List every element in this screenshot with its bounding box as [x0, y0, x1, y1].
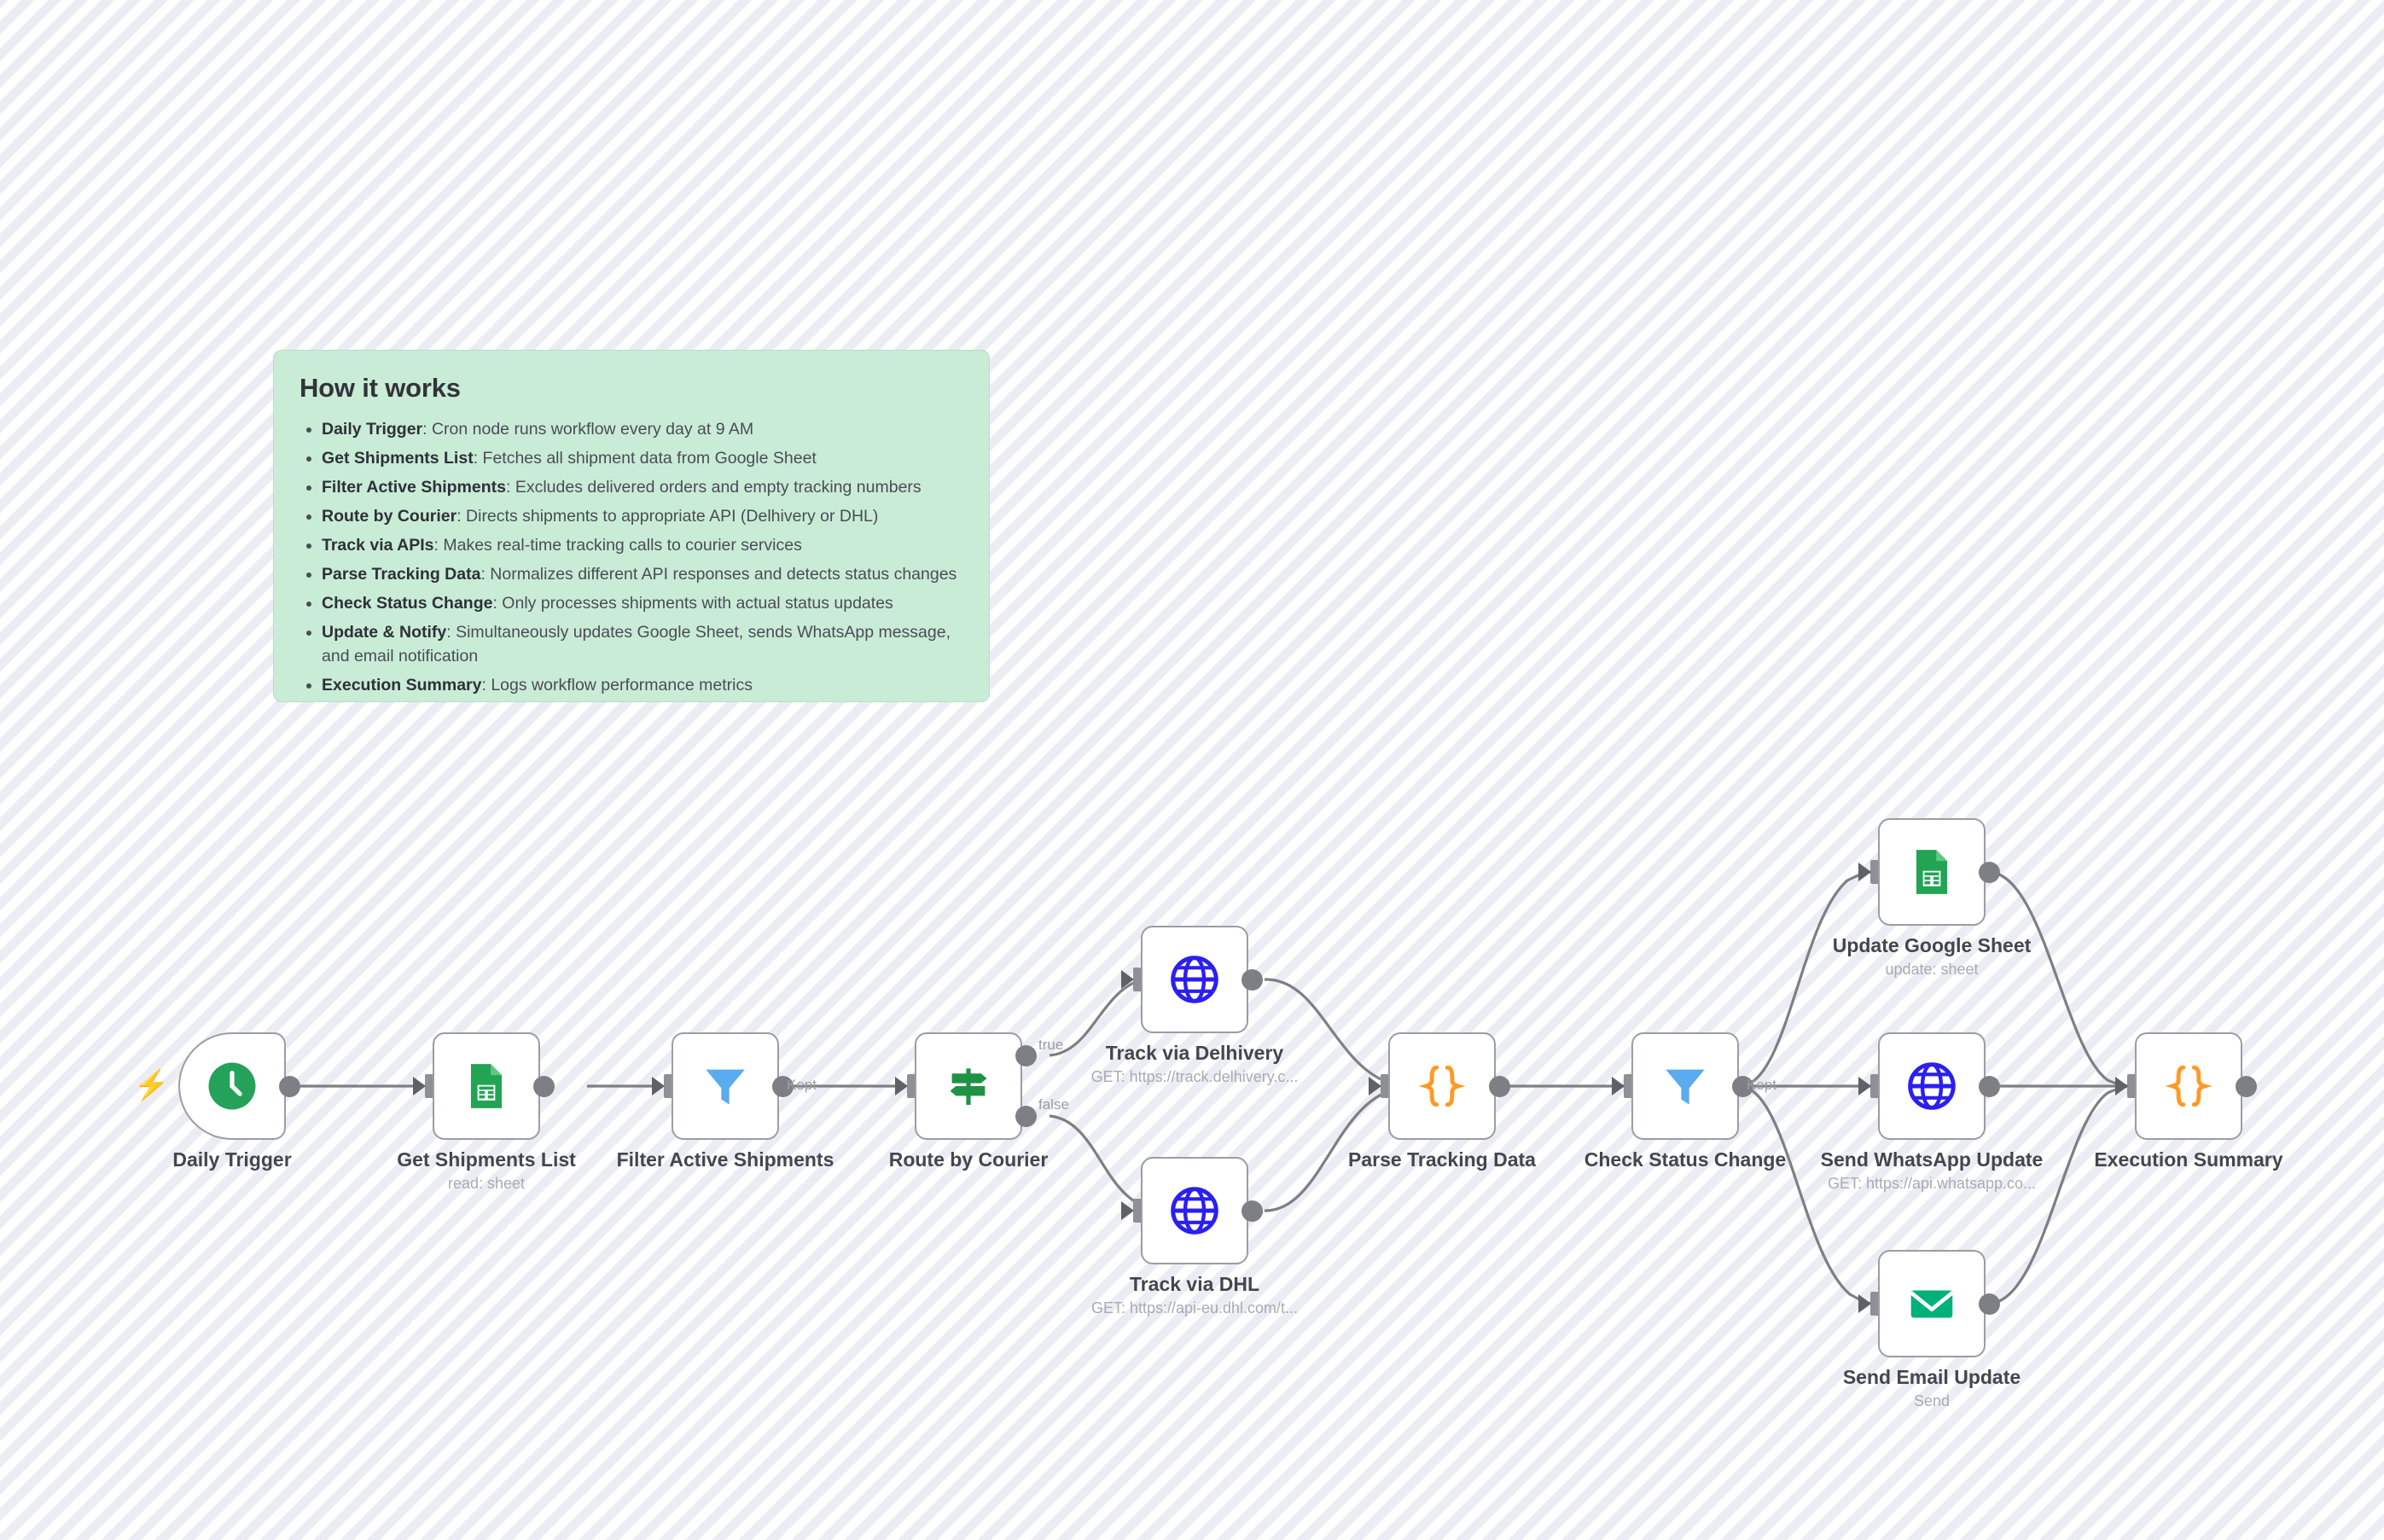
note-title: How it works: [299, 373, 963, 404]
note-item-term: Daily Trigger: [322, 420, 422, 439]
note-item-desc: : Only processes shipments with actual s…: [492, 594, 893, 613]
note-item-term: Parse Tracking Data: [322, 565, 480, 584]
node-subtitle: read: sheet: [290, 1175, 683, 1193]
note-item: Execution Summary: Logs workflow perform…: [322, 673, 963, 697]
connection-label-kept: Kept: [1747, 1077, 1776, 1094]
connection-label-kept: Kept: [787, 1077, 817, 1094]
wire-sheet-to-summary: [1988, 872, 2131, 1086]
output-endpoint[interactable]: [1979, 1293, 2000, 1315]
node-title: Send Email Update: [1736, 1366, 2128, 1389]
funnel-icon: [699, 1060, 752, 1113]
node-title: Execution Summary: [1992, 1148, 2384, 1171]
output-endpoint[interactable]: [1241, 969, 1263, 991]
connection-label-false: false: [1038, 1096, 1069, 1113]
output-endpoint[interactable]: [1489, 1076, 1510, 1097]
note-item-desc: : Makes real-time tracking calls to cour…: [434, 536, 802, 555]
globe-icon: [1904, 1058, 1960, 1114]
node-subtitle: GET: https://api-eu.dhl.com/t...: [998, 1299, 1391, 1317]
node-body[interactable]: [672, 1032, 779, 1140]
envelope-icon: [1905, 1277, 1958, 1330]
output-endpoint[interactable]: [1241, 1200, 1263, 1222]
wire-check-to-sheet: [1741, 872, 1875, 1086]
note-item: Update & Notify: Simultaneously updates …: [322, 620, 963, 668]
note-item-desc: : Directs shipments to appropriate API (…: [456, 507, 878, 526]
google-sheets-icon: [1905, 846, 1958, 898]
how-it-works-note[interactable]: How it works Daily Trigger: Cron node ru…: [273, 350, 990, 702]
note-item-desc: : Normalizes different API responses and…: [480, 565, 957, 584]
note-item-desc: : Logs workflow performance metrics: [481, 676, 753, 694]
note-item-term: Execution Summary: [322, 676, 481, 694]
node-title: Track via Delhivery: [998, 1042, 1391, 1065]
note-item-desc: : Excludes delivered orders and empty tr…: [506, 478, 922, 497]
note-list: Daily Trigger: Cron node runs workflow e…: [299, 417, 963, 697]
note-item-term: Check Status Change: [322, 594, 492, 613]
note-item-desc: : Fetches all shipment data from Google …: [474, 449, 817, 468]
output-endpoint-false[interactable]: [1015, 1106, 1037, 1127]
node-subtitle: GET: https://api.whatsapp.co...: [1736, 1175, 2128, 1193]
code-braces-icon: [1416, 1060, 1468, 1113]
wire-email-to-summary: [1988, 1086, 2131, 1304]
lightning-bolt-icon: ⚡: [133, 1071, 169, 1100]
node-body[interactable]: [1141, 1157, 1248, 1264]
note-item: Get Shipments List: Fetches all shipment…: [322, 446, 963, 470]
node-title: Route by Courier: [772, 1148, 1165, 1171]
node-subtitle: Send: [1736, 1392, 2128, 1410]
output-endpoint[interactable]: [1979, 1076, 2000, 1097]
note-item: Route by Courier: Directs shipments to a…: [322, 504, 963, 528]
note-item: Parse Tracking Data: Normalizes differen…: [322, 562, 963, 586]
node-body[interactable]: [2135, 1032, 2242, 1140]
note-item-term: Route by Courier: [322, 507, 456, 526]
note-item: Daily Trigger: Cron node runs workflow e…: [322, 417, 963, 441]
workflow-canvas[interactable]: How it works Daily Trigger: Cron node ru…: [0, 0, 2384, 1540]
node-subtitle: update: sheet: [1736, 961, 2128, 979]
signpost-icon: [942, 1060, 995, 1113]
note-item-term: Get Shipments List: [322, 449, 474, 468]
google-sheets-icon: [460, 1060, 513, 1113]
wire-check-to-email: [1741, 1086, 1875, 1304]
output-endpoint[interactable]: [279, 1076, 300, 1097]
node-body[interactable]: [1388, 1032, 1496, 1140]
node-body[interactable]: [178, 1032, 286, 1140]
node-body[interactable]: [433, 1032, 540, 1140]
node-title: Track via DHL: [998, 1273, 1391, 1296]
node-subtitle: GET: https://track.delhivery.c...: [998, 1068, 1391, 1086]
note-item-term: Filter Active Shipments: [322, 478, 506, 497]
output-endpoint[interactable]: [1979, 862, 2000, 883]
funnel-icon: [1659, 1060, 1712, 1113]
code-braces-icon: [2162, 1060, 2215, 1113]
clock-icon: [204, 1058, 260, 1114]
output-endpoint[interactable]: [533, 1076, 555, 1097]
note-item-desc: : Cron node runs workflow every day at 9…: [422, 420, 753, 439]
output-endpoint[interactable]: [2236, 1076, 2257, 1097]
note-item-term: Update & Notify: [322, 623, 446, 642]
node-body[interactable]: [1878, 818, 1986, 926]
node-body[interactable]: [1878, 1250, 1986, 1357]
note-item-term: Track via APIs: [322, 536, 434, 555]
globe-icon: [1166, 1183, 1223, 1239]
node-body[interactable]: [1631, 1032, 1739, 1140]
note-item: Filter Active Shipments: Excludes delive…: [322, 475, 963, 499]
note-item: Check Status Change: Only processes ship…: [322, 591, 963, 615]
node-title: Update Google Sheet: [1736, 934, 2128, 957]
globe-icon: [1166, 951, 1223, 1008]
note-item: Track via APIs: Makes real-time tracking…: [322, 533, 963, 557]
node-body[interactable]: [1878, 1032, 1986, 1140]
node-body[interactable]: [1141, 926, 1248, 1033]
